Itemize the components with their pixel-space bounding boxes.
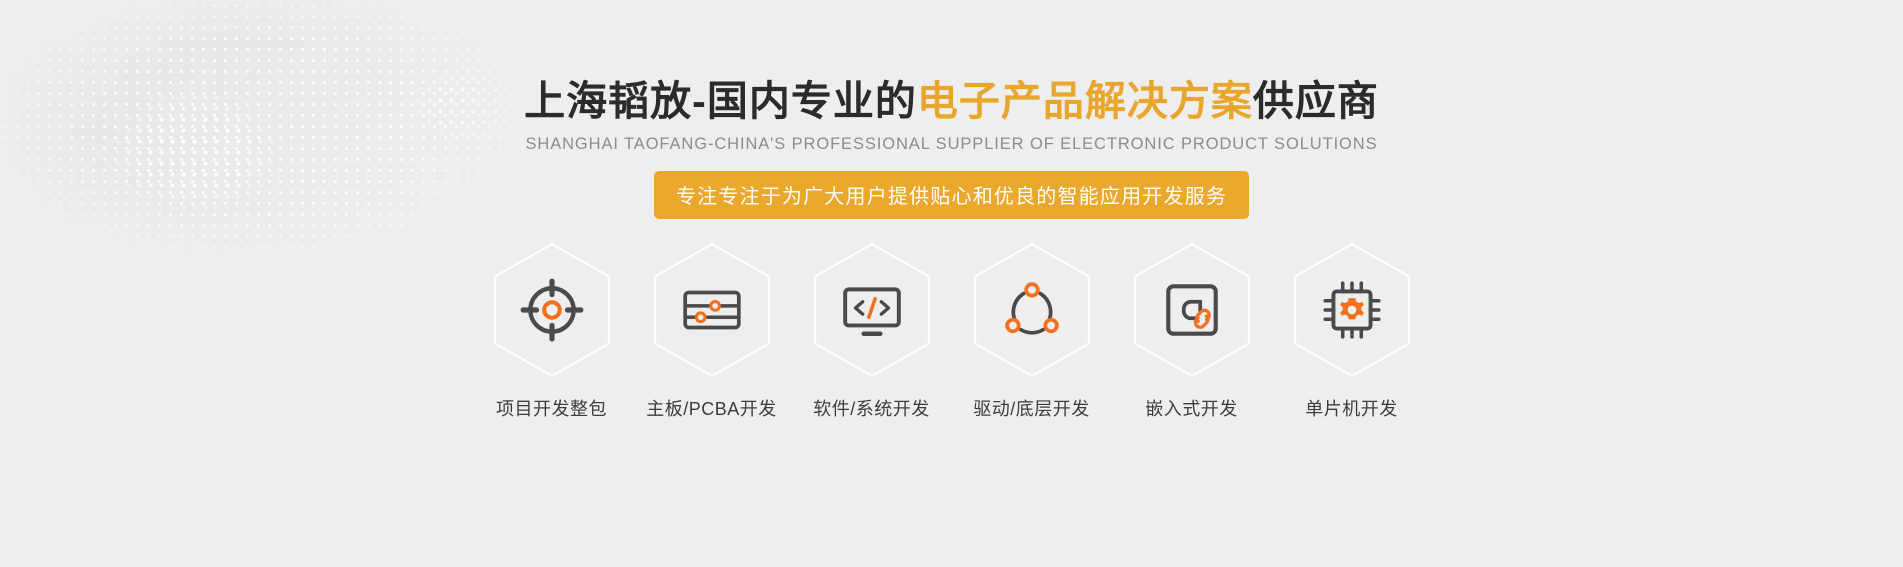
tagline-badge: 专注专注于为广大用户提供贴心和优良的智能应用开发服务 — [654, 171, 1249, 219]
feature-label: 主板/PCBA开发 — [646, 395, 777, 421]
headline-lead: 上海韬放-国内专业的 — [524, 78, 917, 124]
feature-item-driver-lowlevel[interactable]: 驱动/底层开发 — [952, 241, 1112, 421]
hero-banner: 上海韬放-国内专业的电子产品解决方案供应商 SHANGHAI TAOFANG-C… — [0, 0, 1903, 567]
chip-gear-icon — [1319, 277, 1385, 343]
monitor-code-icon — [839, 277, 905, 343]
headline-accent: 电子产品解决方案 — [917, 78, 1253, 124]
headline-tail: 供应商 — [1253, 78, 1379, 124]
feature-list: 项目开发整包 — [0, 241, 1903, 421]
hexagon-frame — [1290, 241, 1414, 379]
pcb-board-icon — [679, 277, 745, 343]
hexagon-frame — [1130, 241, 1254, 379]
page-subtitle: SHANGHAI TAOFANG-CHINA'S PROFESSIONAL SU… — [0, 135, 1903, 154]
page-title: 上海韬放-国内专业的电子产品解决方案供应商 — [0, 78, 1903, 125]
embedded-link-icon — [1159, 277, 1225, 343]
feature-label: 软件/系统开发 — [813, 395, 930, 421]
feature-item-project-package[interactable]: 项目开发整包 — [472, 241, 632, 421]
crosshair-target-icon — [519, 277, 585, 343]
feature-label: 嵌入式开发 — [1145, 395, 1238, 421]
feature-label: 单片机开发 — [1305, 395, 1398, 421]
feature-item-mcu[interactable]: 单片机开发 — [1272, 241, 1432, 421]
feature-item-mainboard-pcba[interactable]: 主板/PCBA开发 — [632, 241, 792, 421]
feature-label: 驱动/底层开发 — [973, 395, 1090, 421]
hexagon-frame — [810, 241, 934, 379]
hexagon-frame — [970, 241, 1094, 379]
feature-item-software-system[interactable]: 软件/系统开发 — [792, 241, 952, 421]
node-network-icon — [999, 277, 1065, 343]
tagline-container: 专注专注于为广大用户提供贴心和优良的智能应用开发服务 — [0, 171, 1903, 219]
hexagon-frame — [650, 241, 774, 379]
feature-label: 项目开发整包 — [496, 395, 607, 421]
hero-content: 上海韬放-国内专业的电子产品解决方案供应商 SHANGHAI TAOFANG-C… — [0, 78, 1903, 421]
hexagon-frame — [490, 241, 614, 379]
feature-item-embedded[interactable]: 嵌入式开发 — [1112, 241, 1272, 421]
